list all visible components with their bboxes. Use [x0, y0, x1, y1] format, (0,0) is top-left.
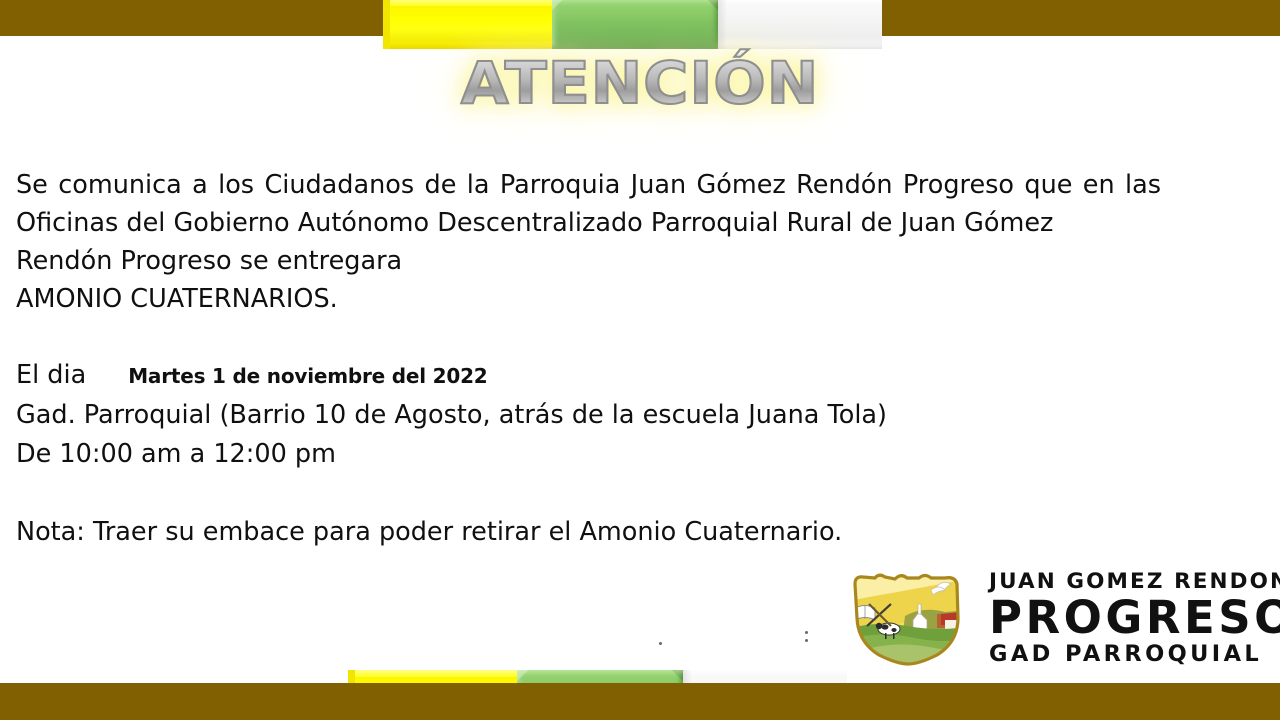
- page-title-text: ATENCIÓN: [461, 52, 819, 114]
- banner-block-green: [552, 0, 718, 49]
- bottom-olive-band: [0, 683, 1280, 720]
- paragraph-line-2: Oficinas del Gobierno Autónomo Descentra…: [16, 208, 1053, 238]
- banner-block-white: [718, 0, 882, 49]
- logo-line-3: GAD PARROQUIAL: [989, 643, 1280, 666]
- event-place-line: Gad. Parroquial (Barrio 10 de Agosto, at…: [16, 396, 887, 435]
- event-time-line: De 10:00 am a 12:00 pm: [16, 435, 887, 474]
- paragraph-line-3: Rendón Progreso se entregara: [16, 242, 1161, 280]
- artifact-speck: [805, 631, 808, 634]
- logo-line-2: PROGRESO: [989, 595, 1280, 640]
- page-title: ATENCIÓN: [0, 52, 1280, 122]
- day-label: El dia: [16, 356, 86, 395]
- logo-wordmark: JUAN GOMEZ RENDON PROGRESO GAD PARROQUIA…: [989, 571, 1280, 665]
- shield-crest-icon: [845, 570, 971, 666]
- paragraph-line-1: Se comunica a los Ciudadanos de la Parro…: [16, 170, 1161, 200]
- announcement-paragraph: Se comunica a los Ciudadanos de la Parro…: [16, 166, 1161, 242]
- event-details: El dia Martes 1 de noviembre del 2022 Ga…: [16, 356, 887, 474]
- organization-logo: JUAN GOMEZ RENDON PROGRESO GAD PARROQUIA…: [845, 568, 1265, 668]
- announcement-body: Se comunica a los Ciudadanos de la Parro…: [16, 166, 1161, 318]
- top-banner-blocks: [383, 0, 882, 49]
- event-date-value: Martes 1 de noviembre del 2022: [128, 357, 487, 396]
- logo-line-1: JUAN GOMEZ RENDON: [989, 571, 1280, 593]
- artifact-speck: [805, 639, 808, 642]
- announcement-slide: ATENCIÓN Se comunica a los Ciudadanos de…: [0, 0, 1280, 720]
- event-day-row: El dia Martes 1 de noviembre del 2022: [16, 356, 887, 396]
- banner-block-yellow: [383, 0, 552, 49]
- artifact-speck: [659, 642, 662, 645]
- note-line: Nota: Traer su embace para poder retirar…: [16, 515, 842, 549]
- product-name-line: AMONIO CUATERNARIOS.: [16, 280, 1161, 318]
